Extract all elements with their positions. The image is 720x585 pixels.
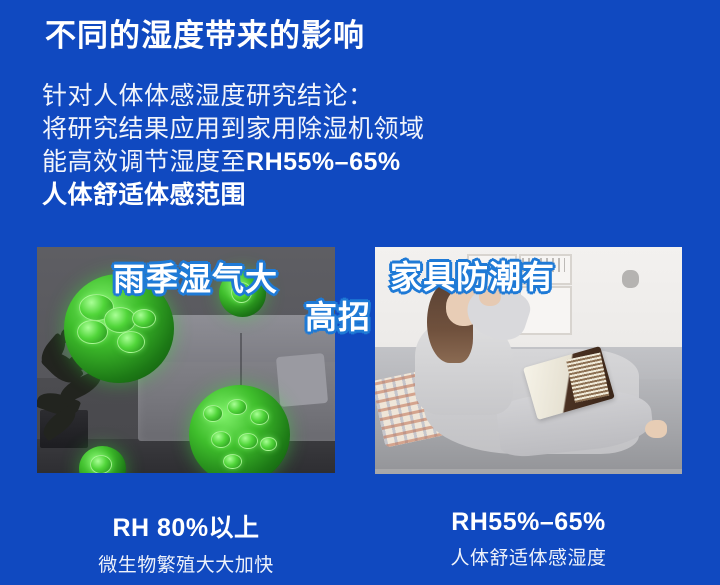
page-title: 不同的湿度带来的影响 <box>45 18 365 54</box>
cushion-graphic <box>276 354 328 408</box>
caption-title: RH55%–65% <box>375 508 682 537</box>
caption-title: RH 80%以上 <box>37 508 335 544</box>
poster-root: 不同的湿度带来的影响 针对人体体感湿度研究结论： 将研究结果应用到家用除湿机领域… <box>0 0 720 585</box>
intro-line-3-prefix: 能高效调节湿度至 <box>42 148 246 176</box>
overlay-slogan-furniture-moisture: 家具防潮有 <box>390 258 555 296</box>
intro-line-3: 能高效调节湿度至RH55%–65% <box>42 146 462 179</box>
person-foot-graphic <box>645 420 666 438</box>
intro-line-4: 人体舒适体感范围 <box>42 179 462 212</box>
intro-line-1: 针对人体体感湿度研究结论： <box>42 80 462 113</box>
caption-subtitle: 微生物繁殖大大加快 <box>37 550 335 577</box>
caption-subtitle: 人体舒适体感湿度 <box>375 543 682 570</box>
intro-line-3-highlight: RH55%–65% <box>246 148 401 176</box>
overlay-slogan-humid-season-line2: 高招 <box>305 298 371 336</box>
intro-line-2: 将研究结果应用到家用除湿机领域 <box>42 113 462 146</box>
intro-paragraph: 针对人体体感湿度研究结论： 将研究结果应用到家用除湿机领域 能高效调节湿度至RH… <box>42 80 462 212</box>
caption-humid-season: RH 80%以上 微生物繁殖大大加快 <box>37 508 335 577</box>
overlay-slogan-humid-season-line1: 雨季湿气大 <box>113 260 278 298</box>
caption-furniture-moisture: RH55%–65% 人体舒适体感湿度 <box>375 508 682 570</box>
wall-decor-icon <box>622 270 639 288</box>
